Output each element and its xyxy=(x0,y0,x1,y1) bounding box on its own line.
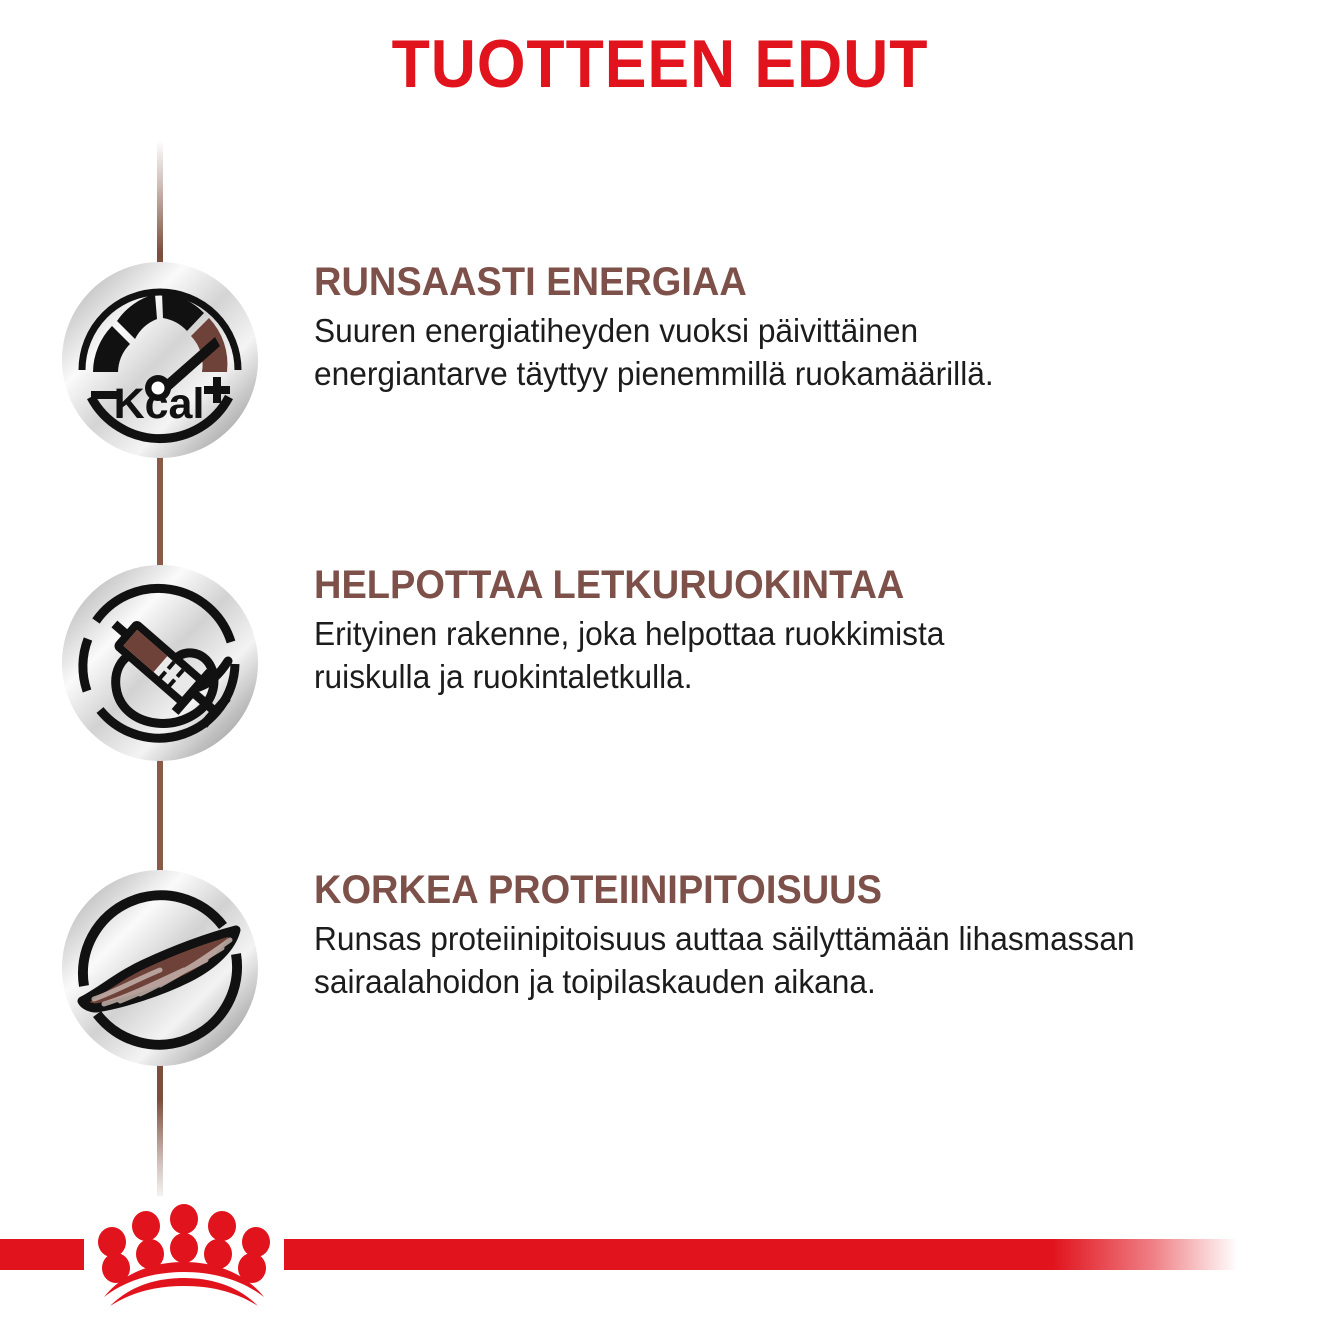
page-title: TUOTTEEN EDUT xyxy=(53,30,1267,98)
benefit-body-line: energiantarve täyttyy pienemmillä ruokam… xyxy=(314,352,1250,396)
benefit-item-tube-feeding: HELPOTTAA LETKURUOKINTAA Erityinen raken… xyxy=(0,563,1320,763)
benefit-text-protein: KORKEA PROTEIINIPITOISUUS Runsas proteii… xyxy=(314,870,1289,1004)
benefit-body-line: Erityinen rakenne, joka helpottaa ruokki… xyxy=(314,612,1250,656)
kcal-energy-gauge-icon: Kcal xyxy=(60,260,260,460)
benefit-body-line: sairaalahoidon ja toipilaskauden aikana. xyxy=(314,960,1250,1004)
benefit-text-energy: RUNSAASTI ENERGIAA Suuren energiatiheyde… xyxy=(314,262,1289,396)
royal-canin-crown-logo xyxy=(84,1196,284,1306)
benefit-text-tube-feeding: HELPOTTAA LETKURUOKINTAA Erityinen raken… xyxy=(314,565,1289,699)
benefit-body-line: ruiskulla ja ruokintaletkulla. xyxy=(314,655,1250,699)
benefit-body-line: Suuren energiatiheyden vuoksi päivittäin… xyxy=(314,309,1250,353)
benefit-heading: RUNSAASTI ENERGIAA xyxy=(314,262,1240,303)
benefit-body-line: Runsas proteiinipitoisuus auttaa säilytt… xyxy=(314,917,1250,961)
benefit-heading: KORKEA PROTEIINIPITOISUUS xyxy=(314,870,1240,911)
benefit-body: Runsas proteiinipitoisuus auttaa säilytt… xyxy=(314,917,1250,1004)
benefit-body: Suuren energiatiheyden vuoksi päivittäin… xyxy=(314,309,1250,396)
syringe-feeding-tube-icon xyxy=(60,563,260,763)
benefit-item-protein: KORKEA PROTEIINIPITOISUUS Runsas proteii… xyxy=(0,868,1320,1068)
timeline-spine-bottom xyxy=(157,1055,163,1205)
benefit-heading: HELPOTTAA LETKURUOKINTAA xyxy=(314,565,1240,606)
muscle-fiber-icon xyxy=(60,868,260,1068)
kcal-icon-label: Kcal xyxy=(114,380,205,428)
benefit-item-energy: Kcal RUNSAASTI ENERGIAA Suuren energiati… xyxy=(0,260,1320,460)
benefit-body: Erityinen rakenne, joka helpottaa ruokki… xyxy=(314,612,1250,699)
